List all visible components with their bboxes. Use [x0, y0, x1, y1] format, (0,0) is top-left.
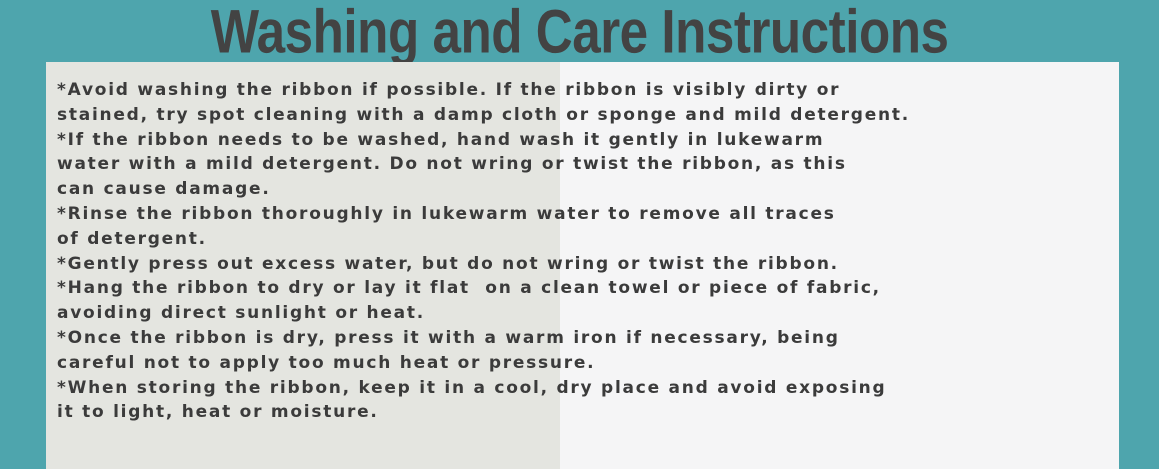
instruction-line: *Once the ribbon is dry, press it with a… [57, 326, 1119, 351]
instruction-line: *Hang the ribbon to dry or lay it flat o… [57, 276, 1119, 301]
page-title: Washing and Care Instructions [211, 0, 949, 62]
instruction-line: *If the ribbon needs to be washed, hand … [57, 128, 1119, 153]
instruction-line: can cause damage. [57, 177, 1119, 202]
poster-root: Washing and Care Instructions *Avoid was… [0, 0, 1159, 469]
instruction-line: *Avoid washing the ribbon if possible. I… [57, 78, 1119, 103]
instructions-card: *Avoid washing the ribbon if possible. I… [46, 62, 1119, 469]
instruction-line: avoiding direct sunlight or heat. [57, 301, 1119, 326]
instruction-line: *When storing the ribbon, keep it in a c… [57, 376, 1119, 401]
instruction-line: stained, try spot cleaning with a damp c… [57, 103, 1119, 128]
instruction-line: water with a mild detergent. Do not wrin… [57, 152, 1119, 177]
instruction-line: *Rinse the ribbon thoroughly in lukewarm… [57, 202, 1119, 227]
instruction-line: careful not to apply too much heat or pr… [57, 351, 1119, 376]
instruction-line: it to light, heat or moisture. [57, 400, 1119, 425]
title-bar: Washing and Care Instructions [0, 0, 1159, 62]
instructions-list: *Avoid washing the ribbon if possible. I… [57, 78, 1119, 425]
instruction-line: of detergent. [57, 227, 1119, 252]
instruction-line: *Gently press out excess water, but do n… [57, 252, 1119, 277]
